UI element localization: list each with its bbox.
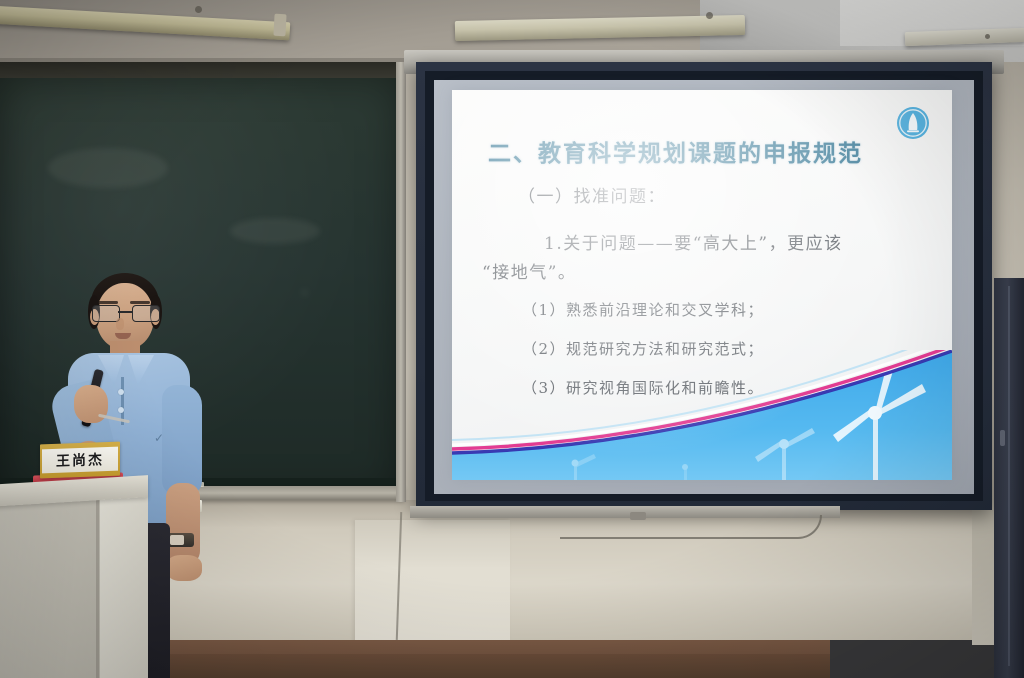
chalk-smudge [48, 148, 168, 188]
ceiling-fixture-dot [985, 34, 990, 39]
door-light-seam [1008, 286, 1010, 666]
glasses-icon [92, 305, 158, 321]
shirt-button [118, 389, 124, 395]
shirt-button [118, 407, 124, 413]
presenter-right-forearm [166, 483, 200, 565]
slide-bullet-3: （3）研究视角国际化和前瞻性。 [522, 377, 922, 398]
ceiling-fixture-dot [195, 6, 202, 13]
slide-bullet-1: （1）熟悉前沿理论和交叉学科； [522, 299, 922, 320]
slide-body: （一）找准问题： 1.关于问题——要“高大上”，更应该 “接地气”。 （1）熟悉… [482, 182, 922, 416]
presenter-right-hand [166, 555, 202, 581]
slide-section-heading: （一）找准问题： [518, 182, 922, 207]
glasses-lens [132, 305, 160, 322]
blackboard-right-frame [396, 62, 406, 502]
slide-title: 二、教育科学规划课题的申报规范 [488, 134, 863, 168]
slide-paragraph-line-2: “接地气”。 [482, 258, 922, 283]
nameplate-text: 王尚杰 [56, 449, 104, 471]
light-end-cap [273, 14, 286, 37]
nameplate: 王尚杰 [40, 442, 120, 479]
wristwatch-face [170, 535, 184, 545]
nameplate-inner: 王尚杰 [42, 447, 118, 474]
presentation-slide: 二、教育科学规划课题的申报规范 （一）找准问题： 1.关于问题——要“高大上”，… [452, 90, 952, 480]
projector-cable [560, 515, 822, 539]
slide-paragraph-line-1: 1.关于问题——要“高大上”，更应该 [544, 229, 922, 254]
presenter-right-arm [162, 385, 202, 495]
presenter-eyebrow [98, 301, 118, 304]
ceiling-fixture-dot [706, 12, 713, 19]
presenter-eyebrow [130, 301, 150, 304]
chalk-smudge [230, 218, 320, 244]
university-emblem-icon [896, 106, 930, 140]
presenter-nose [116, 318, 124, 330]
wall-pillar [355, 520, 510, 660]
slide-bullet-2: （2）规范研究方法和研究范式； [522, 338, 922, 359]
glasses-bridge [118, 311, 132, 313]
podium-shading [0, 487, 148, 678]
classroom-scene: JIN JIDEI [0, 0, 1024, 678]
door-handle[interactable] [1000, 430, 1005, 446]
chalk-smudge [300, 288, 309, 297]
